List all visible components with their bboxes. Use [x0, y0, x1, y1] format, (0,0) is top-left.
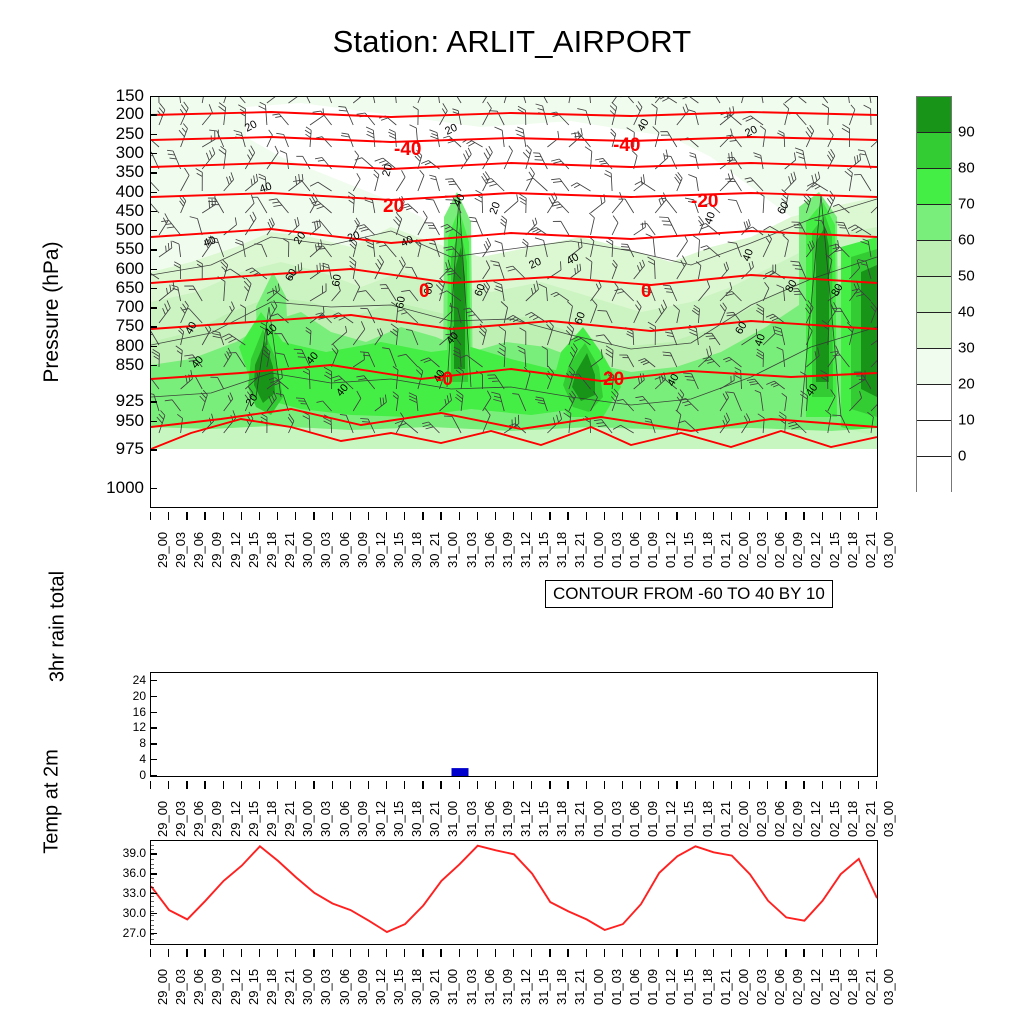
time-tickmark	[168, 781, 169, 789]
time-tick-temp-31_15: 31_15	[536, 969, 551, 1005]
time-tick-rain-29_00: 29_00	[155, 801, 170, 837]
temp-axis-ticks: 27.030.033.036.039.0	[100, 840, 146, 945]
temp-axis-label: Temp at 2m	[41, 692, 64, 912]
rain-tick-12: 12	[133, 720, 146, 734]
colorbar-label-30: 30	[958, 340, 975, 357]
time-tickmark	[404, 781, 405, 789]
time-tick-temp-30_00: 30_00	[300, 969, 315, 1005]
time-tickmark	[749, 512, 750, 520]
time-tickmark	[368, 512, 369, 520]
temp-tick-30.0: 30.0	[123, 906, 146, 920]
time-tickmark	[386, 949, 387, 957]
pressure-tick-350: 350	[98, 163, 144, 180]
time-tick-rain-01_15: 01_15	[681, 801, 696, 837]
time-axis-ticks-temp: 29_0029_0329_0629_0929_1229_1529_1829_21…	[150, 949, 878, 1011]
cross-section-plot: 20 20 40 20 20 40 40 20 40 60 20 40 20 4…	[151, 97, 877, 507]
pressure-tickmark	[150, 346, 157, 347]
time-tickmark	[513, 781, 514, 789]
time-tickmark	[277, 781, 278, 789]
svg-text:60: 60	[330, 273, 344, 287]
time-tick-rain-31_00: 31_00	[445, 801, 460, 837]
svg-text:60: 60	[394, 295, 408, 309]
colorbar-label-70: 70	[958, 196, 975, 213]
temp-minor-tickmark	[150, 920, 154, 921]
time-tick-temp-31_18: 31_18	[554, 969, 569, 1005]
time-tickmark	[767, 949, 768, 957]
isotherm-label-m40: -40	[394, 139, 421, 160]
time-tickmark	[495, 949, 496, 957]
time-tickmark	[295, 512, 296, 520]
temp-minor-tickmark	[150, 939, 154, 940]
temp-minor-tickmark	[150, 929, 154, 930]
time-tick-rain-01_06: 01_06	[627, 801, 642, 837]
time-tickmark	[531, 512, 532, 520]
time-tick-rain-29_09: 29_09	[209, 801, 224, 837]
temp-minor-tickmark	[150, 892, 154, 893]
time-tick-temp-03_00: 03_00	[881, 969, 896, 1005]
time-tickmark	[785, 512, 786, 520]
time-tick-main-30_06: 30_06	[337, 532, 352, 568]
pressure-tick-600: 600	[98, 260, 144, 277]
time-tick-rain-02_06: 02_06	[772, 801, 787, 837]
time-tickmark	[876, 512, 877, 520]
time-tick-rain-29_21: 29_21	[282, 801, 297, 837]
isotherm-label-0: 0	[419, 281, 430, 302]
time-tickmark	[223, 512, 224, 520]
time-tick-main-31_15: 31_15	[536, 532, 551, 568]
time-tickmark	[640, 949, 641, 957]
time-tickmark	[731, 512, 732, 520]
time-tickmark	[604, 949, 605, 957]
time-tick-rain-30_06: 30_06	[337, 801, 352, 837]
time-tickmark	[368, 781, 369, 789]
colorbar-label-10: 10	[958, 412, 975, 429]
time-tick-main-02_09: 02_09	[790, 532, 805, 568]
time-tickmark	[477, 512, 478, 520]
temp-tickmark	[150, 913, 157, 914]
time-tick-rain-02_18: 02_18	[845, 801, 860, 837]
time-tickmark	[313, 512, 314, 520]
time-tick-rain-02_03: 02_03	[754, 801, 769, 837]
rain-tick-16: 16	[133, 705, 146, 719]
time-tick-main-01_12: 01_12	[663, 532, 678, 568]
time-tickmark	[731, 781, 732, 789]
rain-tickmark	[150, 696, 157, 697]
time-tick-temp-01_00: 01_00	[591, 969, 606, 1005]
time-tickmark	[204, 781, 205, 789]
time-tick-rain-01_18: 01_18	[700, 801, 715, 837]
time-tick-temp-30_12: 30_12	[373, 969, 388, 1005]
time-tickmark	[168, 512, 169, 520]
time-tick-temp-30_06: 30_06	[337, 969, 352, 1005]
time-tick-temp-02_21: 02_21	[863, 969, 878, 1005]
time-tick-temp-29_21: 29_21	[282, 969, 297, 1005]
time-tick-rain-30_09: 30_09	[355, 801, 370, 837]
time-tickmark	[440, 949, 441, 957]
time-tick-main-02_00: 02_00	[736, 532, 751, 568]
isotherm-label-0b: 0	[641, 281, 652, 302]
pressure-tick-250: 250	[98, 125, 144, 142]
isotherm-label-20: 20	[383, 196, 404, 217]
pressure-tickmark	[150, 488, 157, 489]
time-tick-main-30_03: 30_03	[318, 532, 333, 568]
time-tickmark	[858, 781, 859, 789]
time-tickmark	[422, 512, 423, 520]
isotherm-label-m20: -20	[691, 191, 718, 212]
time-tickmark	[313, 949, 314, 957]
time-tickmark	[822, 781, 823, 789]
time-tick-rain-30_00: 30_00	[300, 801, 315, 837]
time-tick-main-29_21: 29_21	[282, 532, 297, 568]
pressure-tick-500: 500	[98, 221, 144, 238]
pressure-tick-650: 650	[98, 279, 144, 296]
time-axis-ticks-main: 29_0029_0329_0629_0929_1229_1529_1829_21…	[150, 512, 878, 576]
time-tickmark	[695, 949, 696, 957]
temp-tick-27.0: 27.0	[123, 926, 146, 940]
colorbar-segment	[917, 133, 951, 169]
colorbar-segment	[917, 277, 951, 313]
time-tick-rain-30_18: 30_18	[409, 801, 424, 837]
time-tickmark	[567, 949, 568, 957]
isotherm-label-neg: -0	[436, 369, 453, 390]
rain-tickmark	[150, 775, 157, 776]
time-tick-main-31_00: 31_00	[445, 532, 460, 568]
time-tick-temp-01_06: 01_06	[627, 969, 642, 1005]
time-tickmark	[658, 512, 659, 520]
temp-minor-tickmark	[150, 925, 154, 926]
time-tickmark	[803, 781, 804, 789]
temp-minor-tickmark	[150, 911, 154, 912]
time-tick-main-01_21: 01_21	[718, 532, 733, 568]
time-tickmark	[150, 512, 151, 520]
time-tickmark	[332, 781, 333, 789]
time-tick-rain-01_09: 01_09	[645, 801, 660, 837]
time-tickmark	[422, 781, 423, 789]
temp-line-chart	[151, 841, 877, 944]
pressure-tick-200: 200	[98, 105, 144, 122]
time-tick-main-03_00: 03_00	[881, 532, 896, 568]
time-tickmark	[440, 781, 441, 789]
time-tickmark	[186, 781, 187, 789]
pressure-tickmark	[150, 421, 157, 422]
pressure-tick-300: 300	[98, 144, 144, 161]
time-tickmark	[713, 781, 714, 789]
time-tick-temp-02_12: 02_12	[808, 969, 823, 1005]
temp-tick-36.0: 36.0	[123, 866, 146, 880]
time-tick-rain-01_03: 01_03	[609, 801, 624, 837]
time-tick-rain-31_12: 31_12	[518, 801, 533, 837]
temp-minor-tickmark	[150, 849, 154, 850]
time-tickmark	[259, 949, 260, 957]
time-tickmark	[204, 949, 205, 957]
time-tick-main-29_09: 29_09	[209, 532, 224, 568]
rain-panel[interactable]	[150, 672, 878, 777]
pressure-tick-850: 850	[98, 356, 144, 373]
time-tick-temp-01_03: 01_03	[609, 969, 624, 1005]
time-tickmark	[168, 949, 169, 957]
time-tick-main-29_00: 29_00	[155, 532, 170, 568]
time-tickmark	[386, 512, 387, 520]
temp-tick-33.0: 33.0	[123, 886, 146, 900]
time-tick-main-01_06: 01_06	[627, 532, 642, 568]
pressure-tickmark	[150, 114, 157, 115]
time-tick-rain-03_00: 03_00	[881, 801, 896, 837]
time-tick-rain-02_15: 02_15	[827, 801, 842, 837]
time-tick-main-29_03: 29_03	[173, 532, 188, 568]
isotherm-label-20b: 20	[603, 369, 624, 390]
time-tick-temp-31_03: 31_03	[464, 969, 479, 1005]
colorbar-label-60: 60	[958, 232, 975, 249]
temp-minor-tickmark	[150, 887, 154, 888]
time-tickmark	[713, 512, 714, 520]
pressure-tickmark	[150, 449, 157, 450]
time-tickmark	[459, 512, 460, 520]
time-tick-main-31_21: 31_21	[572, 532, 587, 568]
time-tickmark	[459, 781, 460, 789]
time-tick-rain-02_00: 02_00	[736, 801, 751, 837]
time-tick-main-02_18: 02_18	[845, 532, 860, 568]
time-tick-main-30_15: 30_15	[391, 532, 406, 568]
time-tick-rain-31_06: 31_06	[482, 801, 497, 837]
time-tickmark	[422, 949, 423, 957]
temp-minor-tickmark	[150, 882, 154, 883]
pressure-tickmark	[150, 307, 157, 308]
time-tick-rain-02_12: 02_12	[808, 801, 823, 837]
time-tick-main-02_21: 02_21	[863, 532, 878, 568]
pressure-tickmark	[150, 365, 157, 366]
pressure-tick-1000: 1000	[98, 479, 144, 496]
time-tick-temp-31_21: 31_21	[572, 969, 587, 1005]
time-tickmark	[876, 949, 877, 957]
time-tickmark	[277, 512, 278, 520]
time-tickmark	[567, 512, 568, 520]
time-tick-temp-02_15: 02_15	[827, 969, 842, 1005]
colorbar-label-90: 90	[958, 124, 975, 141]
time-tickmark	[840, 512, 841, 520]
colorbar-segment	[917, 205, 951, 241]
time-tick-rain-31_03: 31_03	[464, 801, 479, 837]
temp-panel[interactable]	[150, 840, 878, 945]
time-tick-rain-29_12: 29_12	[228, 801, 243, 837]
time-tick-temp-02_09: 02_09	[790, 969, 805, 1005]
time-tick-temp-01_09: 01_09	[645, 969, 660, 1005]
colorbar-segment	[917, 241, 951, 277]
rain-axis-ticks: 04812162024	[108, 672, 146, 777]
time-height-cross-section[interactable]: 20 20 40 20 20 40 40 20 40 60 20 40 20 4…	[150, 96, 878, 508]
colorbar-label-20: 20	[958, 376, 975, 393]
time-tick-main-29_06: 29_06	[191, 532, 206, 568]
time-tickmark	[604, 781, 605, 789]
rain-tickmark	[150, 712, 157, 713]
time-tickmark	[513, 949, 514, 957]
time-tick-rain-29_15: 29_15	[246, 801, 261, 837]
time-tickmark	[604, 512, 605, 520]
time-tick-main-30_18: 30_18	[409, 532, 424, 568]
time-tick-rain-30_15: 30_15	[391, 801, 406, 837]
time-tick-main-31_03: 31_03	[464, 532, 479, 568]
temp-tick-39.0: 39.0	[123, 846, 146, 860]
rain-tickmark	[150, 743, 157, 744]
temp-minor-tickmark	[150, 873, 154, 874]
time-tick-main-30_21: 30_21	[427, 532, 442, 568]
time-tickmark	[567, 781, 568, 789]
time-tickmark	[731, 949, 732, 957]
time-tick-rain-29_03: 29_03	[173, 801, 188, 837]
time-tick-temp-02_03: 02_03	[754, 969, 769, 1005]
rain-bar-chart	[151, 673, 877, 776]
time-tickmark	[350, 781, 351, 789]
page-title: Station: ARLIT_AIRPORT	[0, 24, 1024, 60]
time-tickmark	[404, 949, 405, 957]
pressure-tickmark	[150, 401, 157, 402]
time-tick-main-31_06: 31_06	[482, 532, 497, 568]
time-tick-temp-30_15: 30_15	[391, 969, 406, 1005]
time-tick-main-02_03: 02_03	[754, 532, 769, 568]
time-tickmark	[241, 512, 242, 520]
time-tickmark	[477, 781, 478, 789]
temp-tickmark	[150, 893, 157, 894]
time-tick-main-29_18: 29_18	[264, 532, 279, 568]
time-tick-temp-31_06: 31_06	[482, 969, 497, 1005]
time-tickmark	[785, 949, 786, 957]
time-tickmark	[204, 512, 205, 520]
time-tick-rain-01_12: 01_12	[663, 801, 678, 837]
colorbar-segment	[917, 349, 951, 385]
pressure-tick-975: 975	[98, 440, 144, 457]
time-tickmark	[241, 781, 242, 789]
rain-tick-8: 8	[139, 736, 146, 750]
time-tick-temp-02_00: 02_00	[736, 969, 751, 1005]
time-tickmark	[858, 949, 859, 957]
rain-tickmark	[150, 759, 157, 760]
time-tick-main-29_15: 29_15	[246, 532, 261, 568]
time-tick-temp-01_21: 01_21	[718, 969, 733, 1005]
time-tickmark	[259, 512, 260, 520]
time-tick-rain-30_12: 30_12	[373, 801, 388, 837]
time-tickmark	[495, 781, 496, 789]
time-tickmark	[549, 512, 550, 520]
time-tickmark	[767, 781, 768, 789]
time-tickmark	[150, 949, 151, 957]
time-tickmark	[223, 949, 224, 957]
temp-minor-tickmark	[150, 864, 154, 865]
time-tickmark	[622, 781, 623, 789]
time-tick-main-30_09: 30_09	[355, 532, 370, 568]
time-tickmark	[695, 781, 696, 789]
pressure-tickmark	[150, 211, 157, 212]
temp-line	[151, 846, 877, 932]
colorbar-segment	[917, 457, 951, 493]
time-tickmark	[477, 949, 478, 957]
time-tickmark	[368, 949, 369, 957]
time-tickmark	[440, 512, 441, 520]
time-tickmark	[350, 512, 351, 520]
pressure-tick-950: 950	[98, 412, 144, 429]
time-tickmark	[749, 949, 750, 957]
temp-minor-tickmark	[150, 906, 154, 907]
contour-range-note: CONTOUR FROM -60 TO 40 BY 10	[545, 580, 833, 608]
time-tickmark	[332, 949, 333, 957]
time-tick-rain-30_03: 30_03	[318, 801, 333, 837]
time-tickmark	[676, 781, 677, 789]
temp-minor-tickmark	[150, 845, 154, 846]
pressure-axis-label: Pressure (hPa)	[40, 112, 64, 512]
rain-tick-4: 4	[139, 752, 146, 766]
colorbar-segment	[917, 169, 951, 205]
colorbar-labels: 9080706050403020100	[958, 96, 1018, 492]
time-tick-main-31_18: 31_18	[554, 532, 569, 568]
time-tick-main-02_12: 02_12	[808, 532, 823, 568]
colorbar-segment	[917, 421, 951, 457]
time-tickmark	[295, 949, 296, 957]
temp-minor-tickmark	[150, 934, 154, 935]
time-axis-ticks-rain: 29_0029_0329_0629_0929_1229_1529_1829_21…	[150, 781, 878, 843]
time-tick-rain-31_21: 31_21	[572, 801, 587, 837]
time-tick-temp-29_00: 29_00	[155, 969, 170, 1005]
time-tick-main-01_18: 01_18	[700, 532, 715, 568]
temp-minor-tickmark	[150, 915, 154, 916]
pressure-tick-550: 550	[98, 240, 144, 257]
pressure-tick-700: 700	[98, 298, 144, 315]
colorbar[interactable]	[916, 96, 952, 492]
time-tickmark	[404, 512, 405, 520]
time-tick-main-31_09: 31_09	[500, 532, 515, 568]
time-tickmark	[749, 781, 750, 789]
time-tick-rain-31_09: 31_09	[500, 801, 515, 837]
time-tickmark	[785, 781, 786, 789]
rain-tickmark	[150, 727, 157, 728]
colorbar-segment	[917, 385, 951, 421]
temp-minor-tickmark	[150, 868, 154, 869]
rain-tick-24: 24	[133, 673, 146, 687]
time-tick-rain-31_18: 31_18	[554, 801, 569, 837]
time-tick-temp-31_00: 31_00	[445, 969, 460, 1005]
pressure-tickmark	[150, 269, 157, 270]
pressure-tickmark	[150, 192, 157, 193]
temp-minor-tickmark	[150, 854, 154, 855]
time-tickmark	[876, 781, 877, 789]
pressure-tick-400: 400	[98, 183, 144, 200]
time-tickmark	[640, 781, 641, 789]
pressure-tick-750: 750	[98, 317, 144, 334]
time-tick-main-01_15: 01_15	[681, 532, 696, 568]
time-tickmark	[695, 512, 696, 520]
time-tick-rain-02_09: 02_09	[790, 801, 805, 837]
time-tick-rain-29_06: 29_06	[191, 801, 206, 837]
pressure-tick-450: 450	[98, 202, 144, 219]
time-tickmark	[586, 512, 587, 520]
rain-tick-0: 0	[139, 768, 146, 782]
colorbar-segment	[917, 97, 951, 133]
pressure-tickmark	[150, 96, 157, 97]
rain-tickmark	[150, 680, 157, 681]
time-tickmark	[767, 512, 768, 520]
time-tickmark	[658, 949, 659, 957]
time-tick-temp-29_15: 29_15	[246, 969, 261, 1005]
time-tick-temp-29_03: 29_03	[173, 969, 188, 1005]
time-tick-temp-29_06: 29_06	[191, 969, 206, 1005]
time-tickmark	[277, 949, 278, 957]
pressure-axis-ticks: 1502002503003504004505005506006507007508…	[84, 96, 144, 508]
pressure-tickmark	[150, 249, 157, 250]
time-tick-temp-30_18: 30_18	[409, 969, 424, 1005]
time-tick-main-30_12: 30_12	[373, 532, 388, 568]
time-tick-temp-01_15: 01_15	[681, 969, 696, 1005]
rain-tick-20: 20	[133, 689, 146, 703]
time-tickmark	[822, 512, 823, 520]
time-tick-main-01_09: 01_09	[645, 532, 660, 568]
temp-minor-tickmark	[150, 859, 154, 860]
